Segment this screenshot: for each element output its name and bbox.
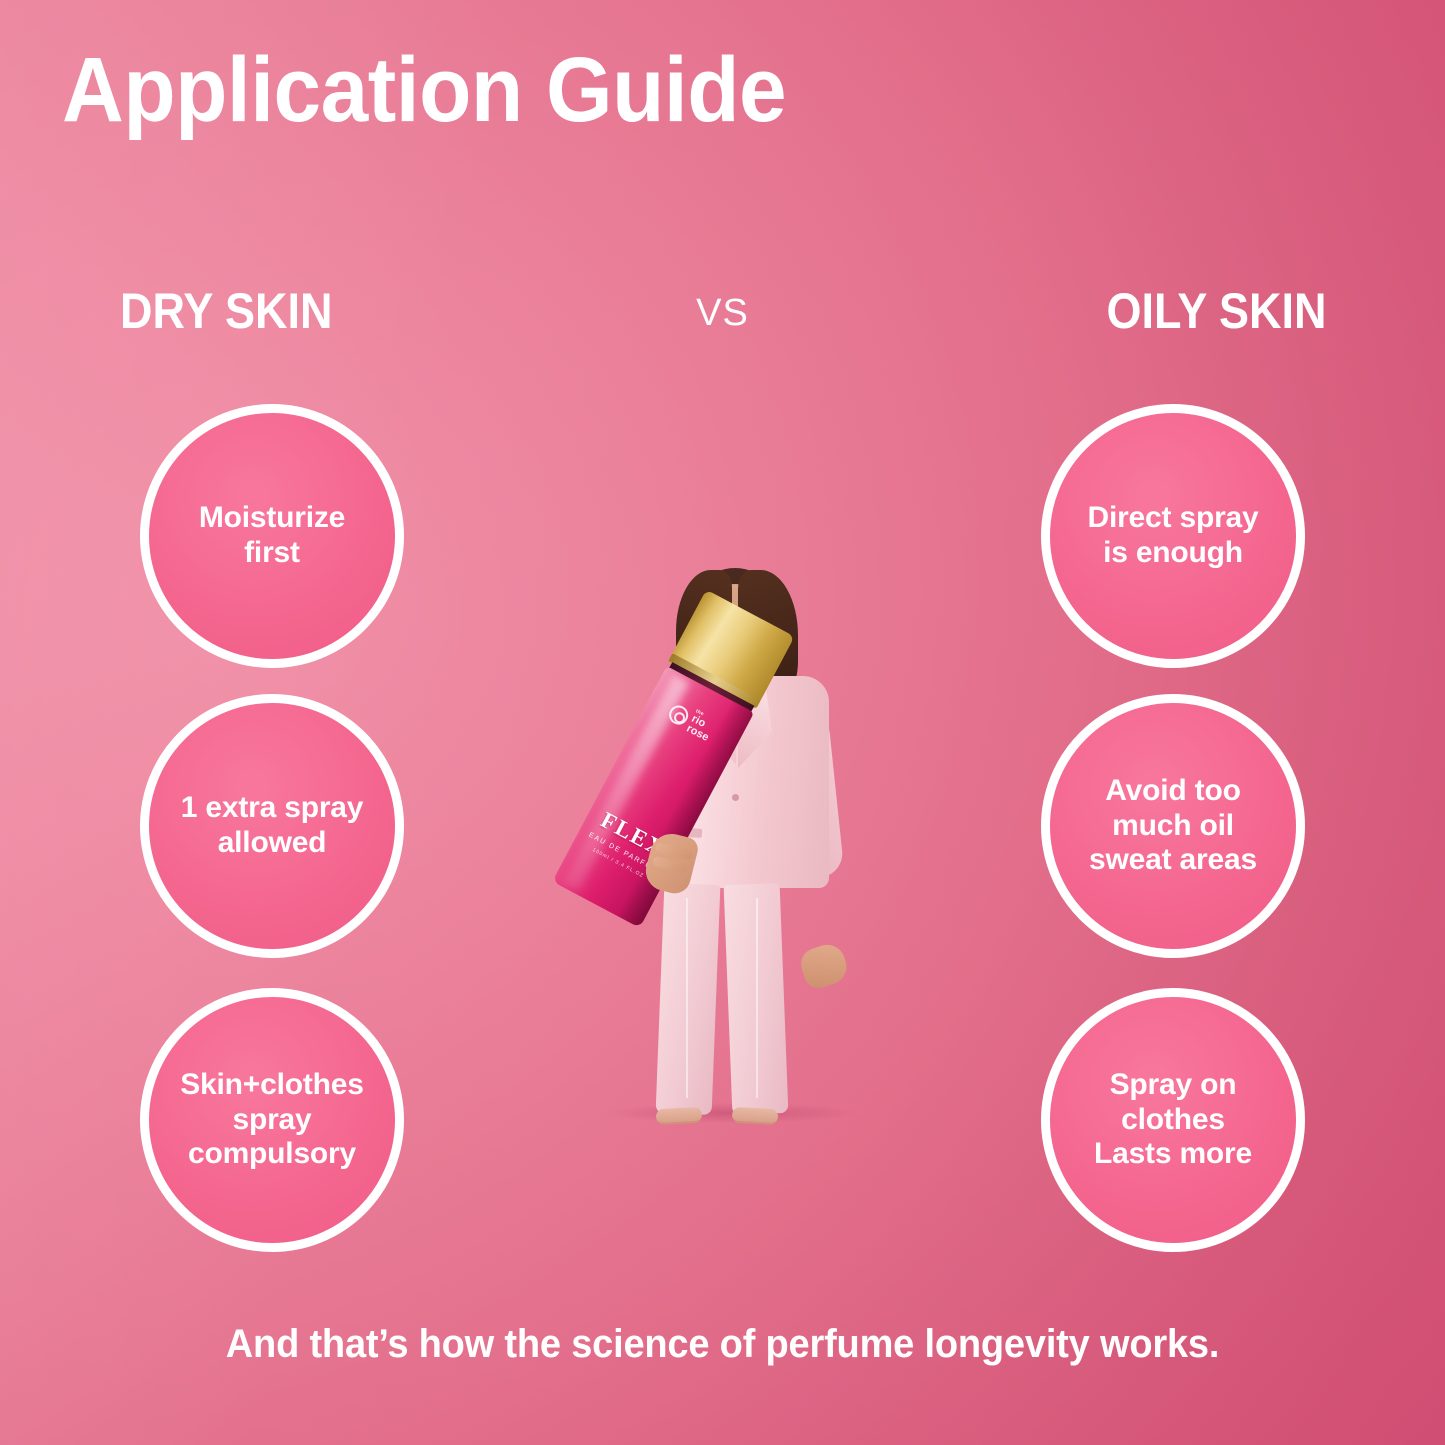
footer-caption: And that’s how the science of perfume lo…	[36, 1322, 1409, 1367]
shoe-right	[732, 1107, 779, 1125]
tip-line: sweat areas	[1089, 843, 1257, 878]
tip-line: Lasts more	[1094, 1137, 1252, 1172]
tip-line: compulsory	[180, 1137, 364, 1172]
tip-line: much oil	[1089, 809, 1257, 844]
tip-line: 1 extra spray	[181, 791, 364, 826]
tip-text: Spray on clothes Lasts more	[1094, 1068, 1252, 1172]
tip-circle-oily-3[interactable]: Spray on clothes Lasts more	[1041, 988, 1305, 1252]
tip-line: Moisturize	[199, 501, 345, 536]
floor-shadow	[606, 1103, 856, 1123]
trouser-leg-left	[656, 883, 721, 1115]
column-heading-oily-skin: OILY SKIN	[1107, 282, 1327, 340]
trouser-crease-right	[756, 898, 758, 1098]
tip-line: allowed	[181, 826, 364, 861]
blazer-button	[732, 794, 739, 801]
tip-line: first	[199, 536, 345, 571]
tip-circle-oily-1[interactable]: Direct spray is enough	[1041, 404, 1305, 668]
tip-text: Avoid too much oil sweat areas	[1089, 774, 1257, 878]
tip-line: clothes	[1094, 1103, 1252, 1138]
tip-line: spray	[180, 1103, 364, 1138]
model-hand-lower	[797, 940, 851, 992]
product-hero-image: the rio rose FLEX EAU DE PARFUM 100ml / …	[556, 548, 896, 1148]
tip-text: Skin+clothes spray compulsory	[180, 1068, 364, 1172]
column-heading-dry-skin: DRY SKIN	[120, 282, 333, 340]
tip-line: Avoid too	[1089, 774, 1257, 809]
tip-text: 1 extra spray allowed	[181, 791, 364, 861]
tip-circle-dry-1[interactable]: Moisturize first	[140, 404, 404, 668]
tip-circle-dry-3[interactable]: Skin+clothes spray compulsory	[140, 988, 404, 1252]
page-title: Application Guide	[62, 44, 786, 136]
versus-label: VS	[696, 292, 749, 335]
trouser-crease-left	[686, 898, 688, 1098]
tip-line: Spray on	[1094, 1068, 1252, 1103]
tip-text: Moisturize first	[199, 501, 345, 571]
tip-line: is enough	[1087, 536, 1258, 571]
tip-line: Skin+clothes	[180, 1068, 364, 1103]
shoe-left	[656, 1107, 703, 1125]
tip-circle-dry-2[interactable]: 1 extra spray allowed	[140, 694, 404, 958]
tip-text: Direct spray is enough	[1087, 501, 1258, 571]
tip-circle-oily-2[interactable]: Avoid too much oil sweat areas	[1041, 694, 1305, 958]
tip-line: Direct spray	[1087, 501, 1258, 536]
